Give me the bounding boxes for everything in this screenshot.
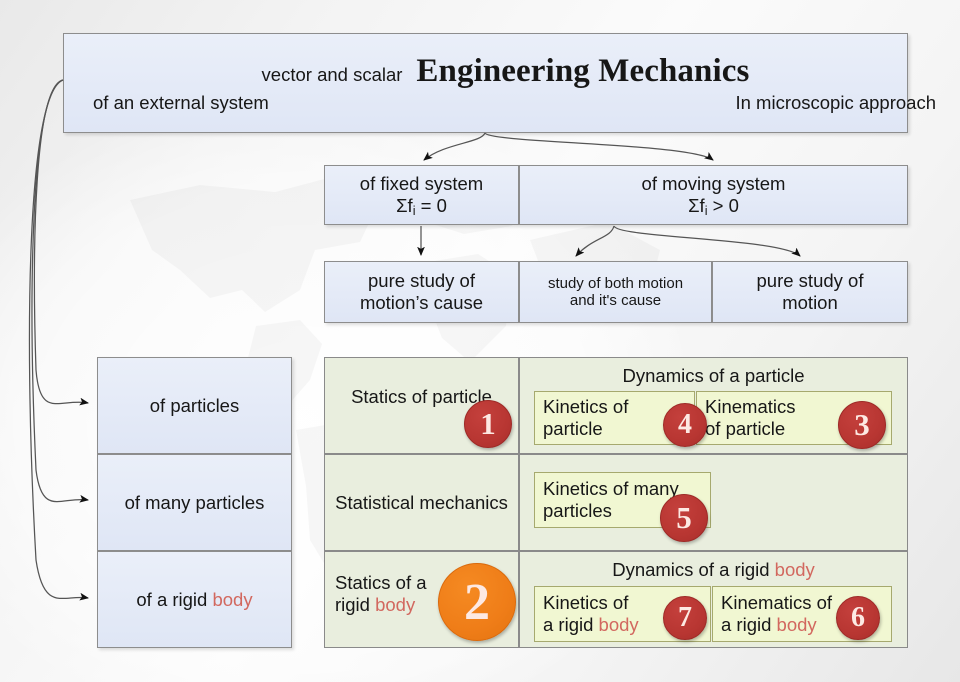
badge-1: 1 <box>464 400 512 448</box>
statics-rigid-line2: rigid body <box>335 594 415 616</box>
badge-7: 7 <box>663 596 707 640</box>
left-item-rigid-body-label: of a rigid body <box>136 589 252 611</box>
diagram-canvas: vector and scalar Engineering Mechanics … <box>0 0 960 682</box>
statistical-mechanics-label: Statistical mechanics <box>335 492 508 514</box>
arrow-moving-to-motion <box>614 226 800 256</box>
study-both-line2: and it's cause <box>570 292 661 309</box>
arrow-title-to-rigid-body <box>29 80 88 598</box>
dynamics-rigid-header: Dynamics of a rigid body <box>612 559 815 581</box>
pure-study-cause-line2: motion’s cause <box>360 292 483 314</box>
badge-2: 2 <box>438 563 516 641</box>
arrow-title-to-fixed <box>424 133 485 160</box>
moving-system-label: of moving system <box>642 173 786 195</box>
left-item-particles: of particles <box>97 357 292 454</box>
title-left-line1: vector and scalar <box>262 64 403 86</box>
badge-3: 3 <box>838 401 886 449</box>
matrix-statistical-mechanics: Statistical mechanics <box>324 454 519 551</box>
pure-study-cause-box: pure study of motion’s cause <box>324 261 519 323</box>
arrow-moving-to-both <box>576 226 614 256</box>
statics-particle-label: Statics of particle <box>351 386 492 408</box>
pure-study-motion-line1: pure study of <box>757 270 864 292</box>
title-right-line: In microscopic approach <box>735 92 936 114</box>
title-box: vector and scalar Engineering Mechanics … <box>63 33 908 133</box>
pure-study-motion-box: pure study of motion <box>712 261 908 323</box>
badge-6: 6 <box>836 596 880 640</box>
left-item-particles-label: of particles <box>150 395 239 417</box>
left-item-many-particles-label: of many particles <box>125 492 265 514</box>
moving-system-equation: Σfi > 0 <box>688 195 739 218</box>
study-both-line1: study of both motion <box>548 275 683 292</box>
fixed-system-label: of fixed system <box>360 173 483 195</box>
arrow-title-to-moving <box>485 133 713 160</box>
badge-5: 5 <box>660 494 708 542</box>
page-title: Engineering Mechanics <box>416 53 749 90</box>
badge-4: 4 <box>663 403 707 447</box>
study-both-box: study of both motion and it's cause <box>519 261 712 323</box>
title-left-line2: of an external system <box>93 92 269 114</box>
fixed-system-equation: Σfi = 0 <box>396 195 447 218</box>
moving-system-box: of moving system Σfi > 0 <box>519 165 908 225</box>
left-item-rigid-body: of a rigid body <box>97 551 292 648</box>
left-item-many-particles: of many particles <box>97 454 292 551</box>
pure-study-motion-line2: motion <box>782 292 838 314</box>
fixed-system-box: of fixed system Σfi = 0 <box>324 165 519 225</box>
pure-study-cause-line1: pure study of <box>368 270 475 292</box>
dynamics-particle-header: Dynamics of a particle <box>623 365 805 387</box>
arrow-title-to-many-particles <box>32 80 88 502</box>
statics-rigid-line1: Statics of a <box>335 572 427 594</box>
